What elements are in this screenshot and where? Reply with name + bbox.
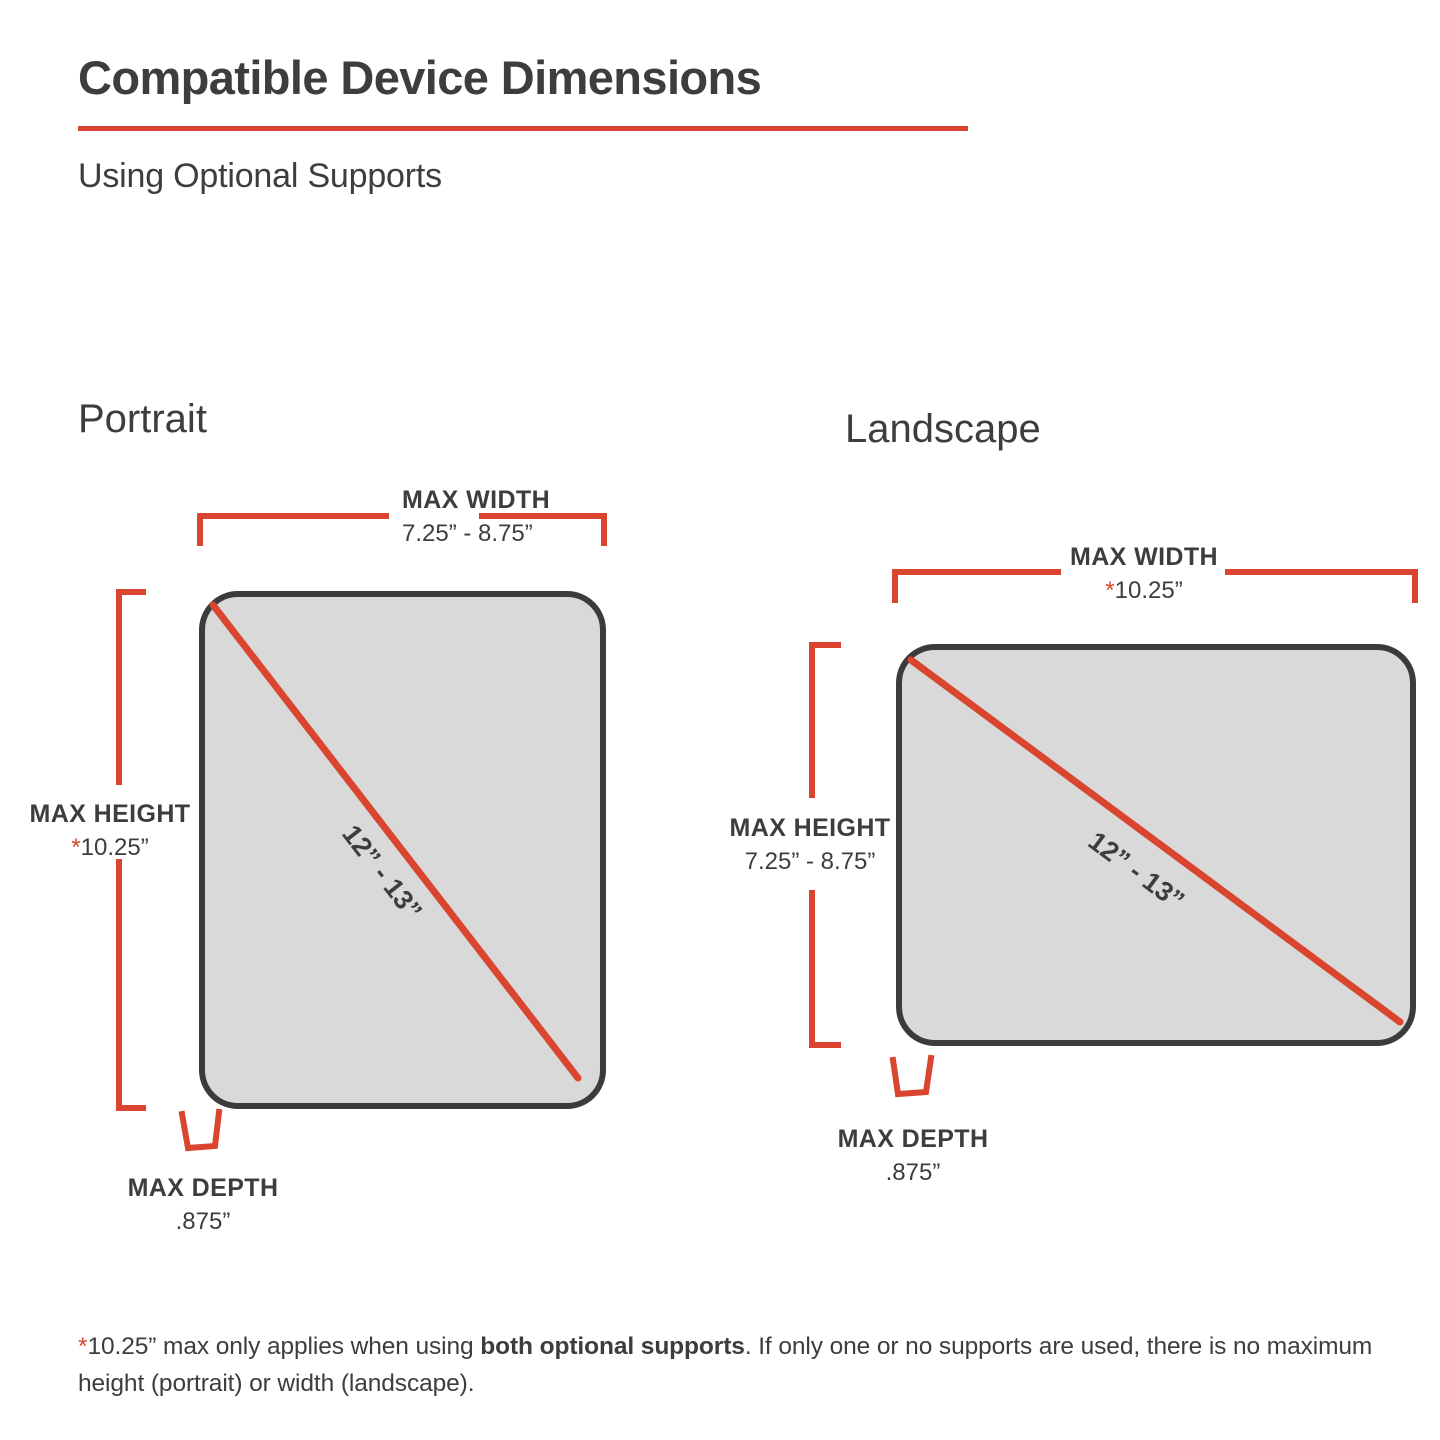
- dimensions-diagram: Portrait 12” - 13” MAX WIDTH 7.25” - 8.7…: [0, 0, 1440, 1440]
- landscape-max-height-label: MAX HEIGHT: [730, 814, 891, 842]
- landscape-depth-bracket: [893, 1058, 931, 1094]
- portrait-max-height-value-group: *10.25”: [71, 834, 148, 861]
- portrait-depth-bracket: [182, 1112, 219, 1148]
- landscape-max-depth-label: MAX DEPTH: [838, 1125, 989, 1153]
- footnote: *10.25” max only applies when using both…: [78, 1328, 1398, 1404]
- landscape-max-width-value: 10.25”: [1115, 577, 1183, 604]
- portrait-section-title: Portrait: [78, 397, 207, 441]
- portrait-max-width-value: 7.25” - 8.75”: [402, 520, 533, 547]
- landscape-max-width-label: MAX WIDTH: [1070, 543, 1218, 571]
- landscape-section-title: Landscape: [845, 407, 1041, 451]
- portrait-max-height-label: MAX HEIGHT: [30, 800, 191, 828]
- landscape-height-bracket: [812, 645, 838, 1045]
- portrait-max-depth-value: .875”: [176, 1208, 231, 1235]
- landscape-width-star: *: [1105, 577, 1114, 604]
- footnote-bold-phrase: both optional supports: [480, 1333, 745, 1360]
- portrait-max-width-label: MAX WIDTH: [402, 486, 550, 514]
- landscape-max-height-value: 7.25” - 8.75”: [745, 848, 876, 875]
- landscape-diagram-group: Landscape 12” - 13” MAX WIDTH *10.25” MA…: [730, 407, 1415, 1186]
- footnote-part-1: 10.25” max only applies when using: [87, 1333, 480, 1360]
- landscape-max-width-value-group: *10.25”: [1105, 577, 1182, 604]
- portrait-max-height-value: 10.25”: [81, 834, 149, 861]
- landscape-max-depth-value: .875”: [886, 1159, 941, 1186]
- portrait-max-depth-label: MAX DEPTH: [128, 1174, 279, 1202]
- portrait-diagram-group: Portrait 12” - 13” MAX WIDTH 7.25” - 8.7…: [30, 397, 604, 1235]
- portrait-height-star: *: [71, 834, 80, 861]
